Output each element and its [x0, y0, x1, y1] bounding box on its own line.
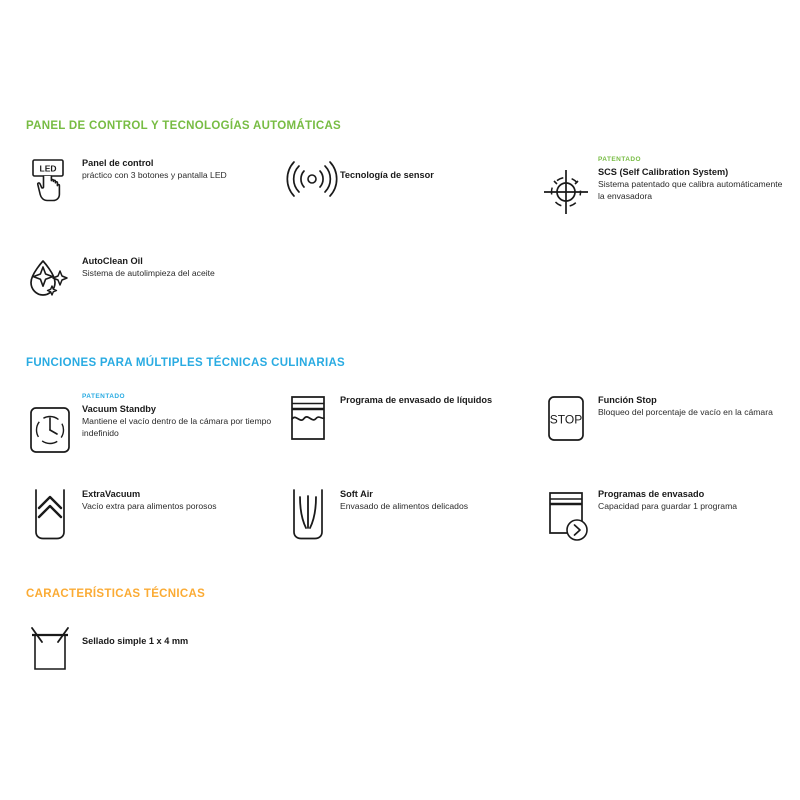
- stop-button-icon: STOP: [542, 392, 598, 448]
- feature-text-extravacuum: ExtraVacuum Vacío extra para alimentos p…: [82, 486, 217, 512]
- svg-text:STOP: STOP: [550, 412, 582, 426]
- grid-spacer: [542, 253, 786, 309]
- soft-air-bag-icon: [284, 486, 340, 542]
- patented-badge: PATENTADO: [82, 394, 284, 401]
- feature-title: Sellado simple 1 x 4 mm: [82, 635, 188, 648]
- section-technical-specs: CARACTERÍSTICAS TÉCNICAS Sellado simple …: [26, 588, 786, 679]
- section-title-culinary-functions: FUNCIONES PARA MÚLTIPLES TÉCNICAS CULINA…: [26, 357, 786, 370]
- feature-text-scs: PATENTADO SCS (Self Calibration System) …: [598, 155, 786, 203]
- feature-grid-culinary-row2: ExtraVacuum Vacío extra para alimentos p…: [26, 486, 786, 542]
- section-title-control-panel: PANEL DE CONTROL Y TECNOLOGÍAS AUTOMÁTIC…: [26, 120, 786, 133]
- feature-soft-air: Soft Air Envasado de alimentos delicados: [284, 486, 542, 542]
- feature-title: Programa de envasado de líquidos: [340, 394, 492, 406]
- feature-text-vacuum-standby: PATENTADO Vacuum Standby Mantiene el vac…: [82, 392, 284, 440]
- feature-title: AutoClean Oil: [82, 255, 215, 267]
- feature-funcion-stop: STOP Función Stop Bloqueo del porcentaje…: [542, 392, 786, 448]
- feature-text-autoclean-oil: AutoClean Oil Sistema de autolimpieza de…: [82, 253, 215, 279]
- feature-tecnologia-de-sensor: Tecnología de sensor: [284, 155, 542, 211]
- feature-text-programa-liquidos: Programa de envasado de líquidos: [340, 392, 492, 406]
- feature-extravacuum: ExtraVacuum Vacío extra para alimentos p…: [26, 486, 284, 542]
- feature-title: Soft Air: [340, 488, 468, 500]
- feature-vacuum-standby: PATENTADO Vacuum Standby Mantiene el vac…: [26, 392, 284, 448]
- section-title-technical-specs: CARACTERÍSTICAS TÉCNICAS: [26, 588, 786, 601]
- feature-description: Sistema de autolimpieza del aceite: [82, 267, 215, 279]
- patented-badge: PATENTADO: [598, 157, 786, 164]
- liquid-bag-icon: [284, 392, 340, 448]
- feature-programas-de-envasado: Programas de envasado Capacidad para gua…: [542, 486, 786, 542]
- grid-spacer: [284, 623, 542, 679]
- feature-text-panel-de-control: Panel de control práctico con 3 botones …: [82, 155, 227, 181]
- section-control-panel: PANEL DE CONTROL Y TECNOLOGÍAS AUTOMÁTIC…: [26, 120, 786, 309]
- seal-bar-bag-icon: [26, 623, 82, 679]
- feature-text-programas-de-envasado: Programas de envasado Capacidad para gua…: [598, 486, 737, 512]
- feature-text-funcion-stop: Función Stop Bloqueo del porcentaje de v…: [598, 392, 773, 418]
- feature-description: Mantiene el vacío dentro de la cámara po…: [82, 415, 284, 439]
- feature-title: SCS (Self Calibration System): [598, 166, 786, 178]
- feature-sellado-simple: Sellado simple 1 x 4 mm: [26, 623, 284, 679]
- feature-panel-de-control: LED Panel de control práctico con 3 boto…: [26, 155, 284, 211]
- feature-title: Panel de control: [82, 157, 227, 169]
- feature-description: Envasado de alimentos delicados: [340, 500, 468, 512]
- grid-spacer: [542, 623, 786, 679]
- feature-title: Vacuum Standby: [82, 403, 284, 415]
- feature-text-tecnologia-de-sensor: Tecnología de sensor: [340, 155, 434, 182]
- sensor-waves-icon: [284, 155, 340, 211]
- feature-autoclean-oil: AutoClean Oil Sistema de autolimpieza de…: [26, 253, 284, 309]
- feature-title: Función Stop: [598, 394, 773, 406]
- feature-scs: PATENTADO SCS (Self Calibration System) …: [542, 155, 786, 211]
- crosshair-target-icon: [542, 155, 598, 211]
- oil-droplet-sparkle-icon: [26, 253, 82, 309]
- double-chevron-up-bag-icon: [26, 486, 82, 542]
- feature-description: Vacío extra para alimentos porosos: [82, 500, 217, 512]
- grid-spacer: [284, 253, 542, 309]
- feature-programa-liquidos: Programa de envasado de líquidos: [284, 392, 542, 448]
- feature-spec-sheet: PANEL DE CONTROL Y TECNOLOGÍAS AUTOMÁTIC…: [0, 0, 800, 800]
- feature-title: ExtraVacuum: [82, 488, 217, 500]
- feature-text-soft-air: Soft Air Envasado de alimentos delicados: [340, 486, 468, 512]
- feature-description: Bloqueo del porcentaje de vacío en la cá…: [598, 406, 773, 418]
- feature-text-sellado-simple: Sellado simple 1 x 4 mm: [82, 623, 188, 648]
- feature-grid-technical-specs: Sellado simple 1 x 4 mm: [26, 623, 786, 679]
- feature-description: Sistema patentado que calibra automática…: [598, 178, 786, 202]
- feature-grid-control-panel: LED Panel de control práctico con 3 boto…: [26, 155, 786, 211]
- section-culinary-functions: FUNCIONES PARA MÚLTIPLES TÉCNICAS CULINA…: [26, 357, 786, 542]
- svg-text:LED: LED: [40, 163, 57, 173]
- feature-grid-culinary-row1: PATENTADO Vacuum Standby Mantiene el vac…: [26, 392, 786, 448]
- feature-grid-control-panel-row2: AutoClean Oil Sistema de autolimpieza de…: [26, 253, 786, 309]
- clock-square-icon: [26, 392, 82, 448]
- bag-chevron-badge-icon: [542, 486, 598, 542]
- led-display-hand-icon: LED: [26, 155, 82, 211]
- feature-description: práctico con 3 botones y pantalla LED: [82, 169, 227, 181]
- feature-title: Programas de envasado: [598, 488, 737, 500]
- feature-title: Tecnología de sensor: [340, 169, 434, 182]
- feature-description: Capacidad para guardar 1 programa: [598, 500, 737, 512]
